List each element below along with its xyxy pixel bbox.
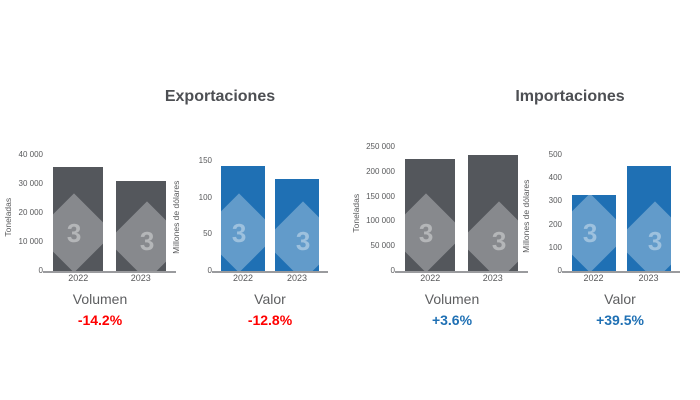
plot-area-exportaciones-valor: 0501001503202232023 [216,155,324,271]
watermark-diamond-icon: 3 [116,201,166,271]
metric-label-exportaciones-volumen: Volumen [20,292,180,306]
y-axis-tick-label: 40 000 [19,151,43,159]
metric-label-importaciones-valor: Valor [540,292,700,306]
watermark-diamond-icon: 3 [468,201,518,271]
x-axis-tick-label: 2023 [110,274,173,283]
change-pct-exportaciones-valor: -12.8% [190,313,350,327]
y-axis-tick-label: 200 [549,221,562,229]
watermark-glyph: 3 [296,228,310,254]
y-axis-tick-label: 50 [203,230,212,238]
bar-2022: 3 [221,166,264,271]
watermark-diamond-icon: 3 [221,193,264,271]
metric-label-exportaciones-valor: Valor [190,292,350,306]
change-pct-importaciones-valor: +39.5% [540,313,700,327]
watermark-clip: 3 [53,167,103,271]
y-axis-tick-label: 300 [549,197,562,205]
y-axis-tick-label: 10 000 [19,238,43,246]
y-axis-tick-label: 30 000 [19,180,43,188]
bar-2023: 3 [627,166,671,271]
plot-area-importaciones-volumen: 050 000100 000150 000200 000250 00032022… [399,146,524,271]
watermark-diamond-icon: 3 [627,201,671,271]
y-axis-tick-label: 150 [199,157,212,165]
metric-label-importaciones-volumen: Volumen [372,292,532,306]
bar-2022: 3 [572,195,616,271]
x-axis-tick-label: 2022 [399,274,462,283]
watermark-glyph: 3 [492,228,506,254]
section-title-importaciones: Importaciones [420,88,700,106]
watermark-clip: 3 [405,159,455,271]
section-title-exportaciones: Exportaciones [70,88,370,106]
bar-2023: 3 [468,155,518,271]
y-axis-tick-label: 250 000 [366,143,395,151]
chart-canvas: { "titles": { "exportaciones": "Exportac… [0,0,700,400]
watermark-diamond-icon: 3 [53,193,103,271]
watermark-glyph: 3 [232,220,246,246]
x-axis-line [395,271,528,273]
y-axis-tick-label: 400 [549,174,562,182]
change-pct-importaciones-volumen: +3.6% [372,313,532,327]
y-axis-tick-label: 100 000 [366,217,395,225]
x-axis-tick-label: 2022 [216,274,270,283]
x-axis-tick-label: 2023 [270,274,324,283]
watermark-glyph: 3 [582,220,596,246]
plot-area-exportaciones-volumen: 010 00020 00030 00040 0003202232023 [47,155,172,271]
bar-2023: 3 [116,181,166,271]
watermark-glyph: 3 [647,228,661,254]
x-axis-line [43,271,176,273]
bar-2022: 3 [53,167,103,271]
x-axis-line [212,271,328,273]
x-axis-line [562,271,680,273]
y-axis-tick-label: 50 000 [371,242,395,250]
y-axis-tick-label: 150 000 [366,193,395,201]
y-axis-tick-label: 200 000 [366,168,395,176]
watermark-clip: 3 [116,181,166,271]
watermark-clip: 3 [221,166,264,271]
y-axis-tick-label: 500 [549,151,562,159]
watermark-clip: 3 [468,155,518,271]
watermark-glyph: 3 [140,228,154,254]
watermark-glyph: 3 [67,220,81,246]
y-axis-tick-label: 100 [199,194,212,202]
y-axis-tick-label: 20 000 [19,209,43,217]
watermark-diamond-icon: 3 [275,201,318,271]
watermark-clip: 3 [627,166,671,271]
watermark-glyph: 3 [419,220,433,246]
watermark-clip: 3 [572,195,616,271]
x-axis-tick-label: 2022 [566,274,621,283]
y-axis-tick-label: 100 [549,244,562,252]
watermark-diamond-icon: 3 [572,195,616,271]
bar-2022: 3 [405,159,455,271]
x-axis-tick-label: 2022 [47,274,110,283]
watermark-clip: 3 [275,179,318,271]
x-axis-tick-label: 2023 [621,274,676,283]
change-pct-exportaciones-volumen: -14.2% [20,313,180,327]
x-axis-tick-label: 2023 [462,274,525,283]
bar-2023: 3 [275,179,318,271]
watermark-diamond-icon: 3 [405,193,455,271]
plot-area-importaciones-valor: 01002003004005003202232023 [566,152,676,271]
